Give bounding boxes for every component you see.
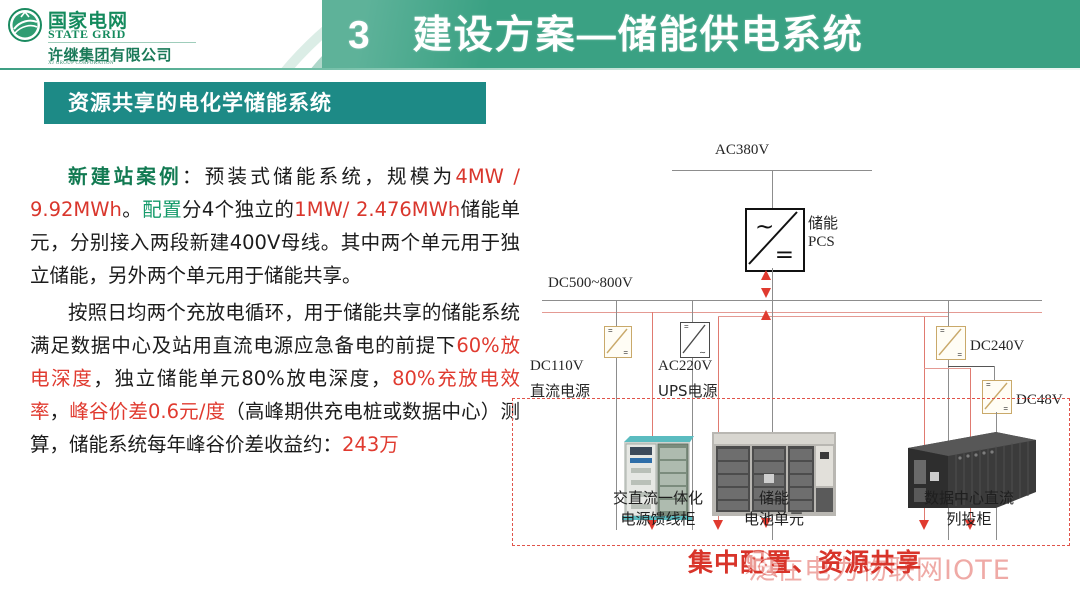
pcs-dc-symbol: = bbox=[775, 242, 794, 268]
p1-value-unit: 1MW/ 2.476MWh bbox=[294, 198, 460, 221]
p2-t3: ， bbox=[50, 400, 70, 423]
slide-root: 3 建设方案—储能供电系统 国家电网 STATE GRID 许继集团有限公司 X… bbox=[0, 0, 1080, 608]
label-ac380v: AC380V bbox=[715, 142, 769, 159]
logo-subtitle-en: XJ GROUP CORPORATION bbox=[48, 61, 114, 66]
logo-divider bbox=[48, 42, 196, 43]
arrow-up-pcs bbox=[761, 270, 771, 280]
label-pcs-line1: 储能 bbox=[808, 212, 838, 233]
label-pcs-line2: PCS bbox=[808, 234, 835, 251]
state-grid-logo: 国家电网 STATE GRID 许继集团有限公司 XJ GROUP CORPOR… bbox=[8, 6, 198, 64]
label-dc240v: DC240V bbox=[970, 338, 1024, 355]
arrow-up-battery bbox=[761, 310, 771, 320]
caption-data-center-dc: 数据中心直流 列投柜 bbox=[884, 488, 1054, 530]
p1-t3: 分4个独立的 bbox=[182, 198, 294, 221]
p2-t1: 按照日均两个充放电循环，用于储能共享的储能系统满足数据中心及站用直流电源应急备电… bbox=[30, 301, 520, 357]
logo-title-en: STATE GRID bbox=[48, 27, 126, 42]
dc-bus-line-secondary bbox=[542, 312, 1042, 313]
ac220-inverter-icon: = ∼ bbox=[680, 322, 710, 358]
p1-t2: 。 bbox=[122, 198, 142, 221]
arrow-down-pcs bbox=[761, 288, 771, 298]
label-ac220v: AC220V bbox=[658, 358, 712, 375]
pcs-dc-drop-line bbox=[772, 268, 773, 300]
ac220-output-horizontal bbox=[718, 316, 948, 317]
paragraph-1: 新建站案例：预装式储能系统，规模为4MW / 9.92MWh。配置分4个独立的1… bbox=[30, 160, 520, 292]
dc240-conv-bottom-symbol: = bbox=[957, 351, 962, 359]
section-title: 资源共享的电化学储能系统 bbox=[68, 82, 332, 124]
slide-header: 3 建设方案—储能供电系统 国家电网 STATE GRID 许继集团有限公司 X… bbox=[0, 0, 1080, 70]
header-rule bbox=[0, 68, 1080, 70]
p2-value-price-diff: 峰谷价差0.6元/度 bbox=[69, 400, 225, 423]
page-title: 3 建设方案—储能供电系统 bbox=[348, 6, 1068, 66]
caption-battery-unit: 储能 电池单元 bbox=[704, 488, 844, 530]
dc48-conv-top-symbol: = bbox=[986, 381, 991, 389]
paragraph-2: 按照日均两个充放电循环，用于储能共享的储能系统满足数据中心及站用直流电源应急备电… bbox=[30, 296, 520, 461]
wechat-logo-icon bbox=[744, 548, 780, 578]
right-red-feeder-tap bbox=[924, 316, 948, 317]
ac220-conv-top-symbol: = bbox=[684, 323, 689, 331]
p1-keyword: 配置 bbox=[142, 198, 182, 221]
body-text-column: 新建站案例：预装式储能系统，规模为4MW / 9.92MWh。配置分4个独立的1… bbox=[30, 160, 520, 465]
right-red-feeder-tap-2 bbox=[924, 368, 970, 369]
dc240-conv-top-symbol: = bbox=[940, 327, 945, 335]
state-grid-emblem-icon bbox=[8, 8, 42, 42]
dc110-conv-top-symbol: = bbox=[608, 327, 613, 335]
dc-bus-line bbox=[542, 300, 1042, 301]
ac220-conv-bottom-symbol: ∼ bbox=[699, 349, 706, 357]
dc110-conv-bottom-symbol: = bbox=[623, 349, 628, 357]
p1-lead: 新建站案例 bbox=[68, 165, 182, 188]
pcs-ac-symbol: ∼ bbox=[755, 214, 774, 240]
ac-drop-line bbox=[772, 170, 773, 208]
dc240-tap-horizontal bbox=[948, 366, 994, 367]
dc240-converter-icon: = = bbox=[936, 326, 966, 360]
p2-value-revenue: 243万 bbox=[342, 433, 399, 456]
storage-power-system-diagram: AC380V ∼ = 储能 PCS DC500~800V = = bbox=[500, 130, 1080, 608]
dc110-converter-icon: = = bbox=[604, 326, 632, 358]
section-title-bar: 资源共享的电化学储能系统 bbox=[44, 82, 486, 124]
p2-t2: ，独立储能单元80%放电深度， bbox=[93, 367, 392, 390]
p1-t1: ：预装式储能系统，规模为 bbox=[182, 165, 455, 188]
label-dc-bus: DC500~800V bbox=[548, 275, 633, 292]
label-dc110v: DC110V bbox=[530, 358, 584, 375]
footer-watermark: 泛在电力物联网IOTE bbox=[748, 548, 1011, 587]
pcs-converter-box: ∼ = bbox=[745, 208, 805, 272]
